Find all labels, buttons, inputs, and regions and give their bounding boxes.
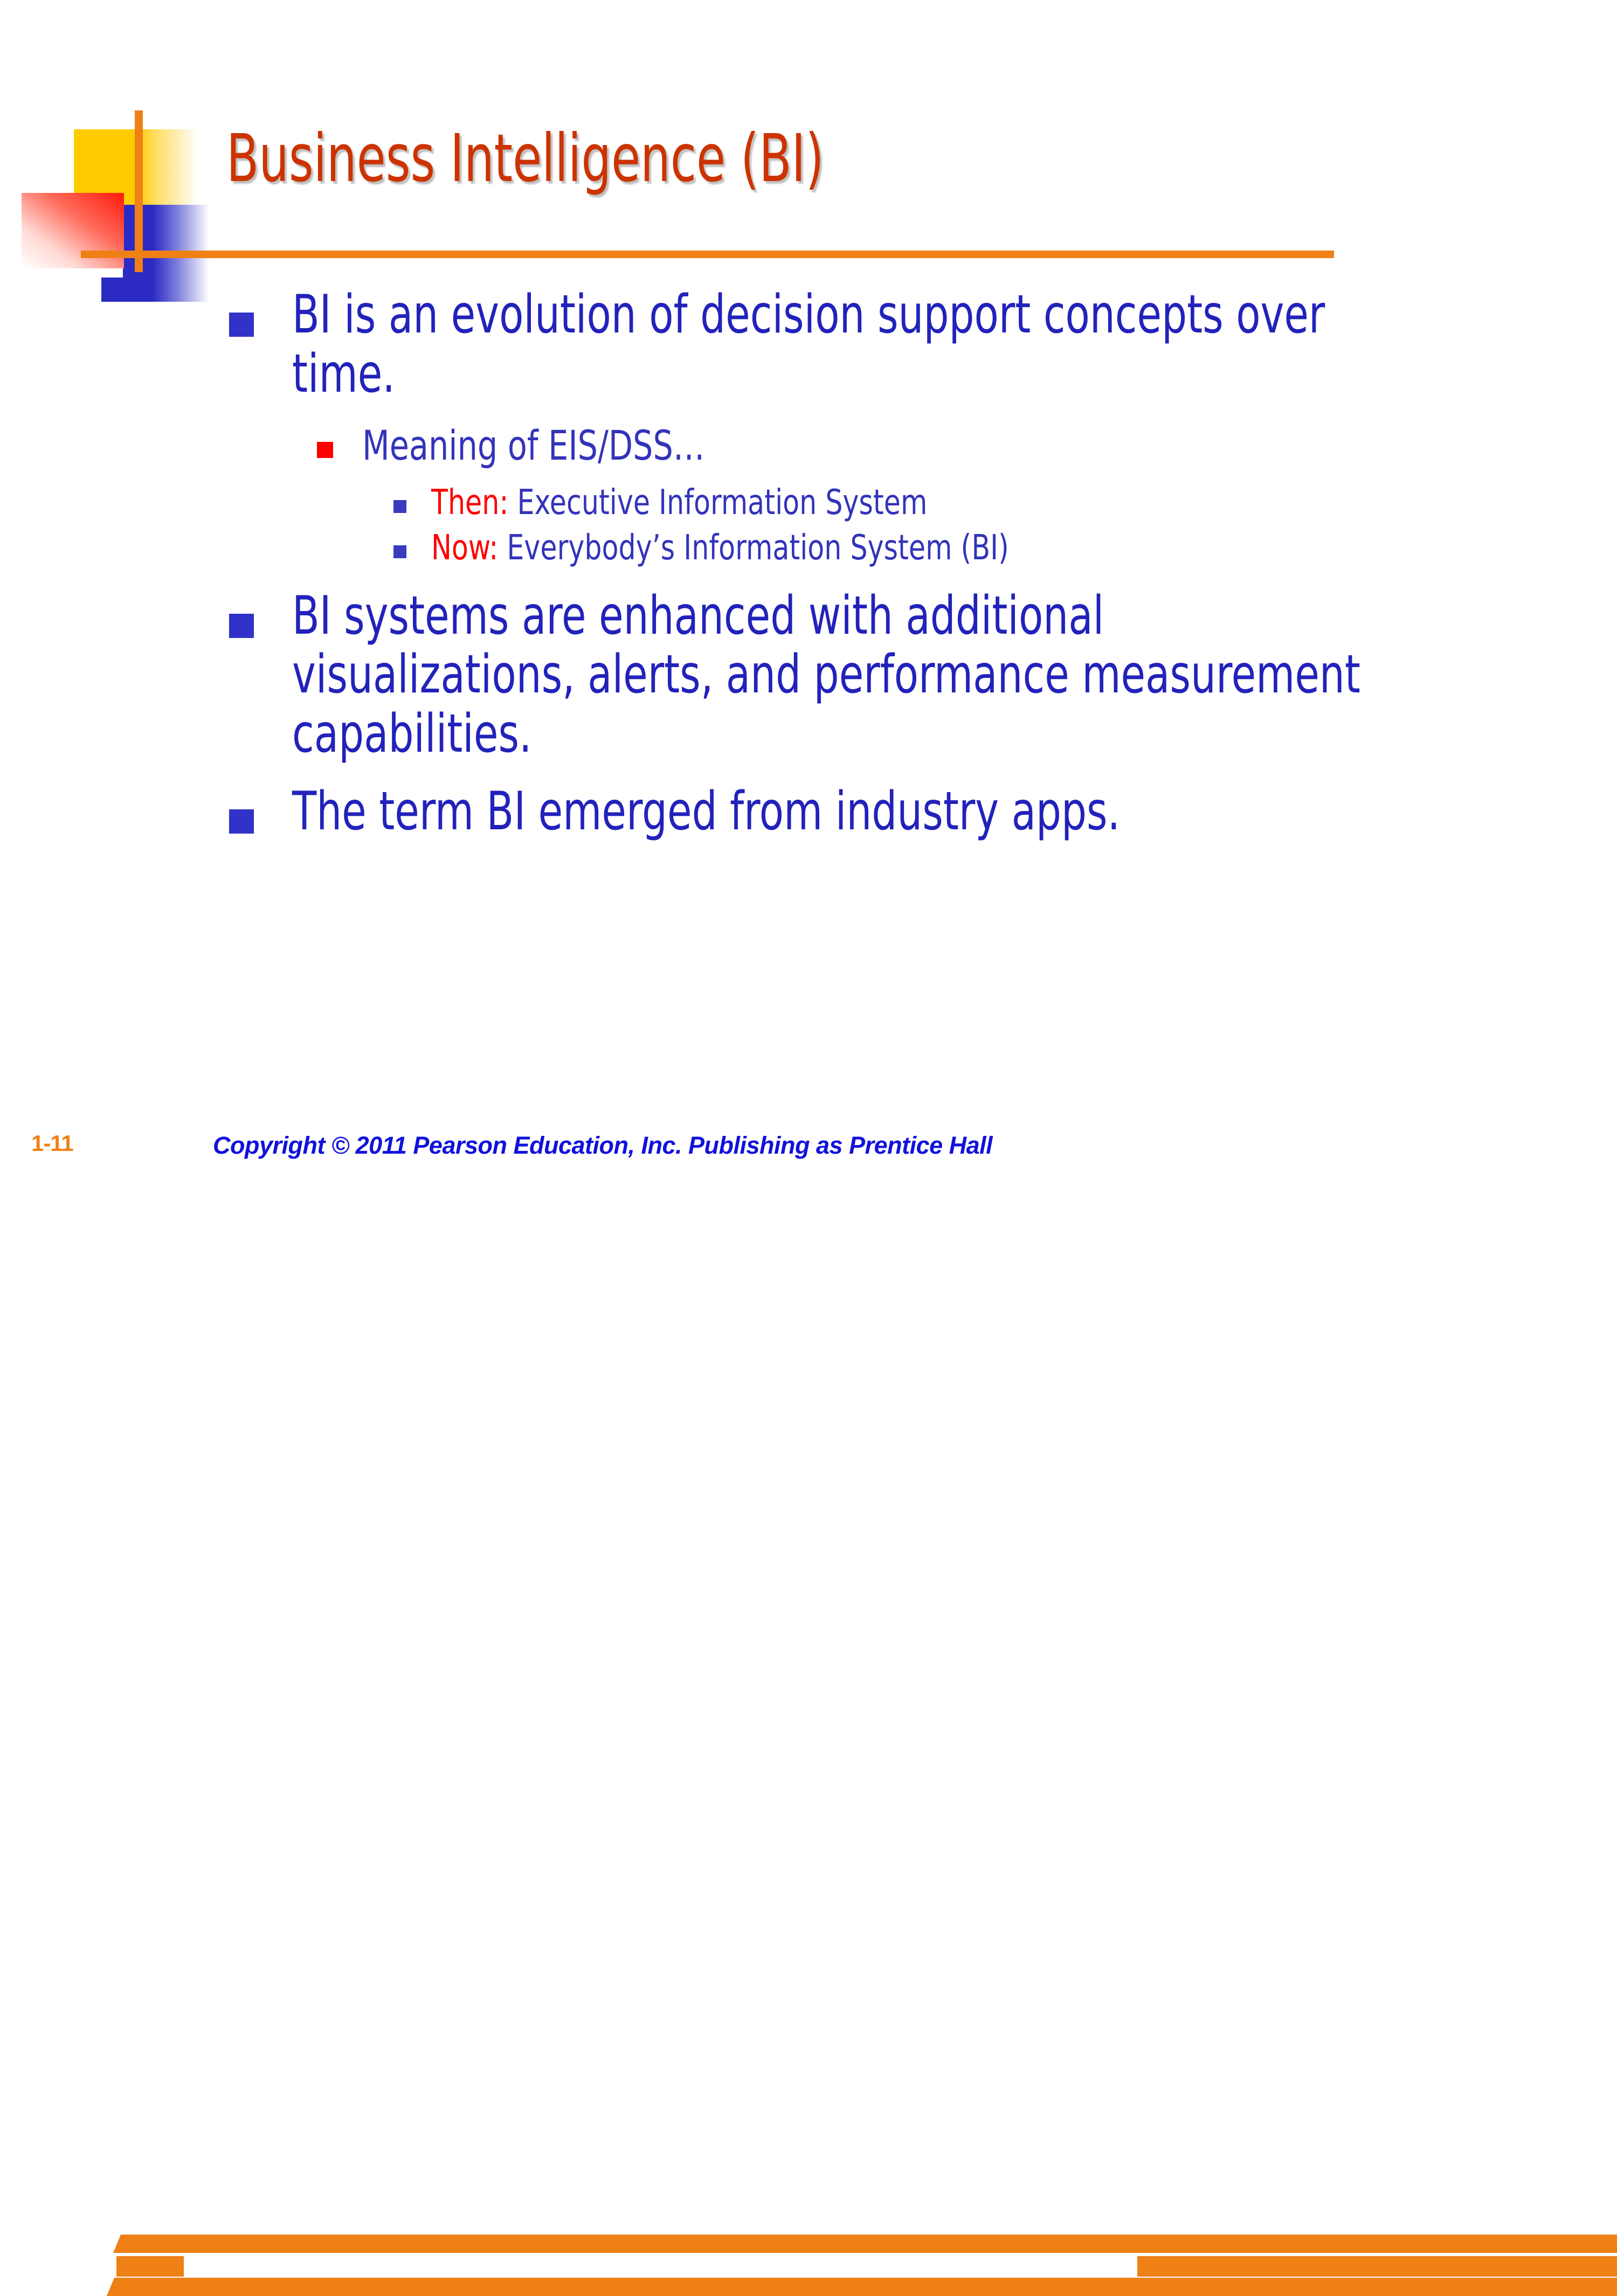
bullet-level3-item-now: Now: Everybody’s Information System (BI) — [0, 528, 1617, 568]
bullet-level1-item: The term BI emerged from industry apps. — [0, 782, 1617, 842]
text-then-rest: Executive Information System — [508, 483, 927, 523]
footer-bar-top — [113, 2235, 1617, 2253]
bullet-level2-item: Meaning of EIS/DSS… — [0, 422, 1617, 469]
bullet-level1-text: BI systems are enhanced with additional … — [292, 587, 1388, 764]
bullet-level2-text: Meaning of EIS/DSS… — [362, 422, 1382, 469]
bullet-level3-text-then: Then: Executive Information System — [431, 483, 1427, 523]
bullet-level1-text: The term BI emerged from industry apps. — [292, 782, 1388, 842]
footer-bar-bottom — [107, 2278, 1617, 2296]
bullet-level1-text: BI is an evolution of decision support c… — [292, 286, 1388, 404]
slide-root: { "slide": { "title": "Business Intellig… — [0, 0, 1617, 1212]
bullet-marker-level1-icon — [229, 313, 254, 337]
label-now: Now: — [431, 528, 498, 568]
bullet-level1-item: BI systems are enhanced with additional … — [0, 587, 1617, 764]
footer-block-left — [116, 2256, 184, 2277]
bullet-marker-level2-icon — [317, 442, 333, 458]
bullet-level3-item-then: Then: Executive Information System — [0, 483, 1617, 523]
bullet-marker-level3-icon — [393, 500, 406, 513]
orange-horizontal-rule — [81, 251, 1334, 258]
bullet-level3-text-now: Now: Everybody’s Information System (BI) — [431, 528, 1427, 568]
slide-number: 1-11 — [31, 1130, 73, 1156]
bullet-level1-item: BI is an evolution of decision support c… — [0, 286, 1617, 404]
orange-vertical-rule — [135, 110, 143, 272]
bullet-marker-level1-icon — [229, 614, 254, 638]
page-title: Business Intelligence (BI) — [226, 125, 824, 192]
bullet-marker-level3-icon — [393, 545, 406, 558]
label-then: Then: — [431, 483, 508, 523]
text-now-rest: Everybody’s Information System (BI) — [498, 528, 1008, 568]
bullet-marker-level1-icon — [229, 809, 254, 834]
slide-body: BI is an evolution of decision support c… — [0, 286, 1617, 845]
footer-block-right — [1137, 2256, 1617, 2277]
copyright-text: Copyright © 2011 Pearson Education, Inc.… — [213, 1132, 992, 1160]
